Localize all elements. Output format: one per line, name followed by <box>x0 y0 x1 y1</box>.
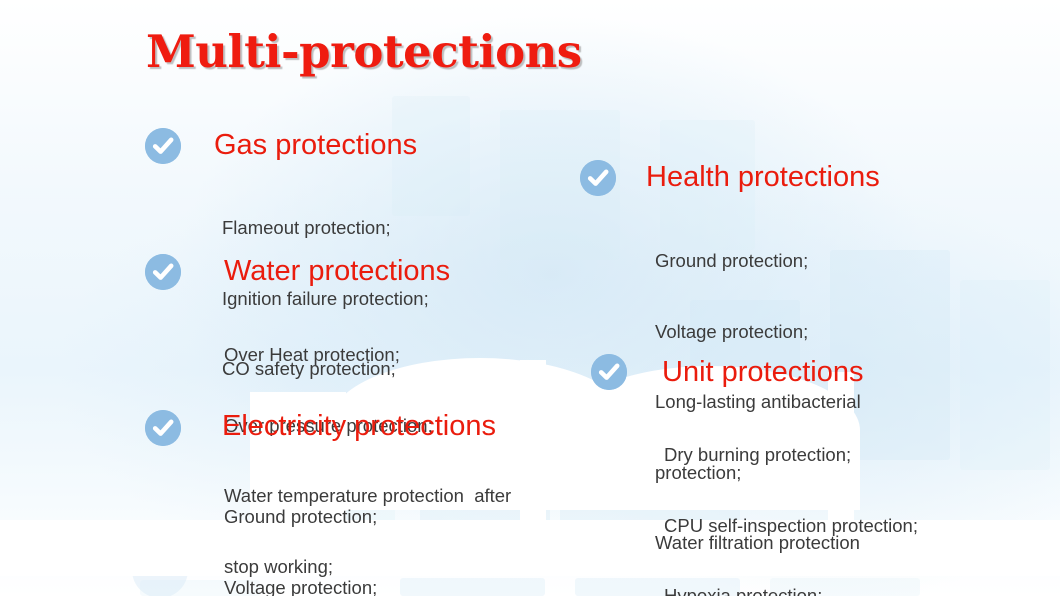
list-item: Ground protection; <box>655 249 861 273</box>
list-item: Voltage protection; <box>224 576 377 596</box>
list-item: Over Heat protection; <box>224 343 511 367</box>
check-circle-icon <box>145 128 181 164</box>
section-heading-gas: Gas protections <box>214 129 417 161</box>
page-title: Multi-protections <box>146 28 582 76</box>
list-item: Hypoxia protection; <box>664 584 918 596</box>
slide-root: Multi-protections Gas protections Flameo… <box>0 0 1060 596</box>
check-circle-icon <box>145 410 181 446</box>
section-body-unit: Dry burning protection; CPU self-inspect… <box>664 396 918 596</box>
check-circle-icon <box>591 354 627 390</box>
slide-content: Multi-protections Gas protections Flameo… <box>0 0 1060 596</box>
list-item: CPU self-inspection protection; <box>664 514 918 538</box>
check-circle-icon <box>145 254 181 290</box>
section-heading-health: Health protections <box>646 161 880 193</box>
section-heading-water: Water protections <box>224 255 450 287</box>
section-heading-electricity: Electricity protections <box>222 410 496 442</box>
list-item: Ground protection; <box>224 505 377 529</box>
list-item: Flameout protection; <box>222 216 429 240</box>
section-body-electricity: Ground protection; Voltage protection; <box>224 458 377 596</box>
check-circle-icon <box>580 160 616 196</box>
section-heading-unit: Unit protections <box>662 356 864 388</box>
list-item: Voltage protection; <box>655 320 861 344</box>
list-item: Dry burning protection; <box>664 443 918 467</box>
